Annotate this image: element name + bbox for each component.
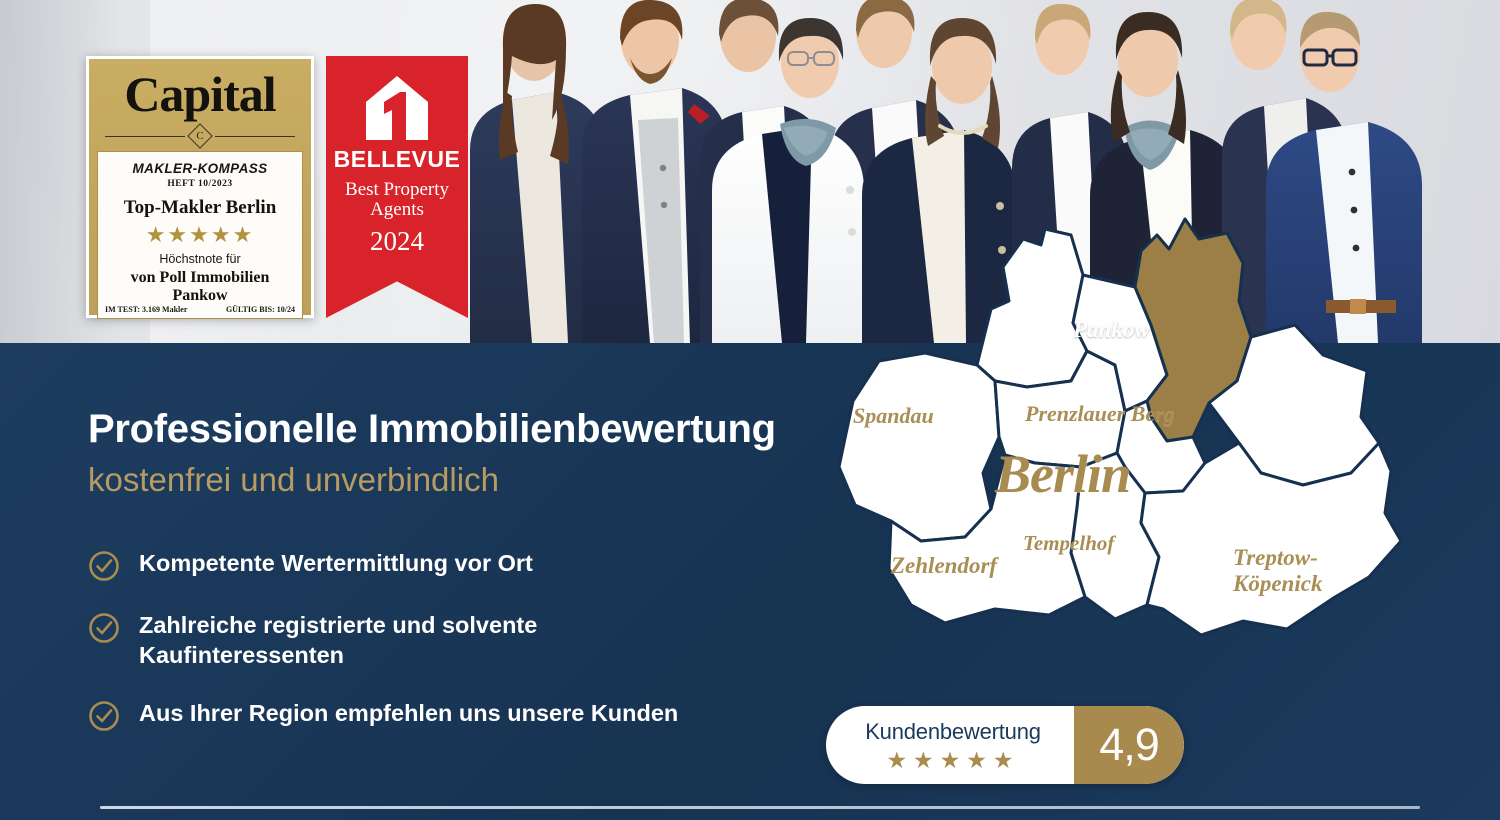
capital-company-line1: von Poll Immobilien [131,269,270,286]
rating-title: Kundenbewertung [865,719,1041,745]
map-label-pankow: Pankow [1073,317,1150,343]
page-subtitle: kostenfrei und unverbindlich [88,462,868,498]
bellevue-subtitle-line2: Agents [370,199,424,220]
bellevue-year: 2024 [370,226,424,257]
bellevue-subtitle: Best Property Agents [345,180,449,220]
capital-rating-label: Höchstnote für [159,252,240,266]
rating-stars-icon: ★★★★★ [886,749,1019,772]
capital-divider: C [105,127,296,145]
capital-badge-body: MAKLER-KOMPASS HEFT 10/2023 Top-Makler B… [97,151,303,319]
check-circle-icon [88,612,120,644]
map-city-label: Berlin [995,443,1130,505]
map-label-zehlendorf: Zehlendorf [891,553,997,579]
list-item: Kompetente Wertermittlung vor Ort [88,548,688,582]
rating-left-section: Kundenbewertung ★★★★★ [826,706,1074,784]
capital-footer: IM TEST: 3.169 Makler GÜLTIG BIS: 10/24 [98,305,302,314]
customer-rating-badge: Kundenbewertung ★★★★★ 4,9 [826,706,1184,784]
benefits-list: Kompetente Wertermittlung vor Ort Zahlre… [88,548,688,732]
capital-award-badge: Capital C MAKLER-KOMPASS HEFT 10/2023 To… [86,56,314,318]
makler-kompass-label: MAKLER-KOMPASS [132,161,267,176]
house-number-one-icon [366,76,428,140]
bellevue-subtitle-line1: Best Property [345,179,449,200]
rating-score-section: 4,9 [1074,706,1184,784]
check-circle-icon [88,700,120,732]
capital-valid: GÜLTIG BIS: 10/24 [226,305,295,314]
berlin-district-map: Berlin Pankow Spandau Prenzlauer Berg Te… [795,205,1435,665]
benefit-label: Zahlreiche registrierte und solvente Kau… [139,610,688,670]
bellevue-name: BELLEVUE [334,146,461,173]
benefit-label: Kompetente Wertermittlung vor Ort [139,548,533,578]
map-label-treptow-koepenick: Treptow- Köpenick [1233,545,1322,597]
map-label-treptow-line1: Treptow- [1233,545,1318,570]
map-label-prenzlauer-berg: Prenzlauer Berg [1025,401,1175,427]
capital-brand: Capital [124,69,275,119]
benefit-label: Aus Ihrer Region empfehlen uns unsere Ku… [139,698,678,728]
list-item: Aus Ihrer Region empfehlen uns unsere Ku… [88,698,688,732]
rating-score: 4,9 [1099,719,1159,771]
section-divider [100,806,1420,809]
capital-issue: HEFT 10/2023 [167,179,232,189]
list-item: Zahlreiche registrierte und solvente Kau… [88,610,688,670]
map-label-treptow-line2: Köpenick [1233,571,1322,596]
landing-hero-stage: Capital C MAKLER-KOMPASS HEFT 10/2023 To… [0,0,1500,820]
capital-award-title: Top-Makler Berlin [124,197,277,219]
capital-tested: IM TEST: 3.169 Makler [105,305,187,314]
capital-stars-icon: ★★★★★ [146,224,255,246]
capital-company-line2: Pankow [172,287,227,304]
capital-monogram-icon: C [187,123,212,148]
map-label-spandau: Spandau [853,403,934,429]
capital-company: von Poll Immobilien Pankow [131,269,270,305]
check-circle-icon [88,550,120,582]
page-title: Professionelle Immobilienbewertung [88,408,868,451]
map-label-tempelhof: Tempelhof [1023,531,1114,556]
bellevue-award-badge: BELLEVUE Best Property Agents 2024 [326,56,468,318]
